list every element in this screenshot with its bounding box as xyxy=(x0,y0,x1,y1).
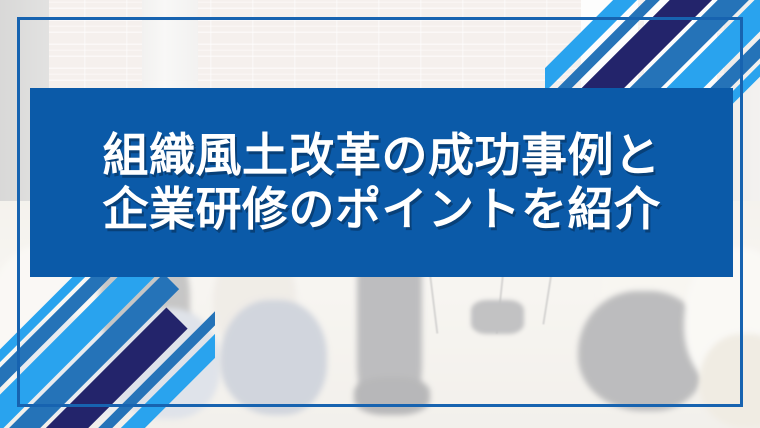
thumbnail-canvas: 組織風土改革の成功事例と 企業研修のポイントを紹介 xyxy=(0,0,760,428)
headline-banner: 組織風土改革の成功事例と 企業研修のポイントを紹介 xyxy=(30,88,733,277)
headline-line-1: 組織風土改革の成功事例と xyxy=(103,131,661,181)
headline-line-2: 企業研修のポイントを紹介 xyxy=(103,185,661,235)
